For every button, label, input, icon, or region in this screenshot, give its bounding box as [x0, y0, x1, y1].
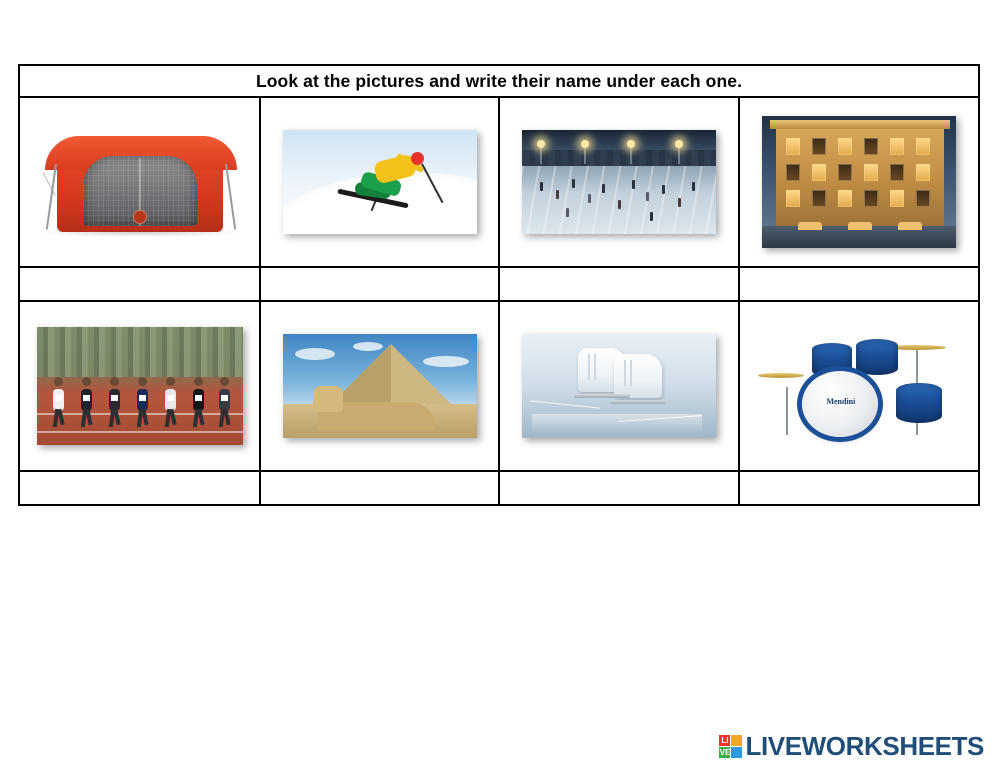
picture-cell-skiing [260, 97, 499, 267]
picture-cell-ice-rink [499, 97, 738, 267]
answer-cell-skiing[interactable] [260, 267, 499, 301]
picture-wrap-pyramid [261, 302, 498, 470]
answer-cell-ice-rink[interactable] [499, 267, 738, 301]
picture-wrap-drums: Mendini [740, 302, 978, 470]
drum-brand-text: Mendini [818, 397, 864, 406]
logo-square-orange [731, 735, 742, 746]
picture-cell-hotel [739, 97, 979, 267]
picture-cell-drums: Mendini [739, 301, 979, 471]
answer-cell-ice-skates[interactable] [499, 471, 738, 505]
answer-cell-hotel[interactable] [739, 267, 979, 301]
picture-wrap-running [20, 302, 259, 470]
pyramid-sphinx-illustration [283, 334, 477, 438]
picture-cell-tent [19, 97, 260, 267]
logo-square-blue [731, 747, 742, 758]
picture-cell-running [19, 301, 260, 471]
logo-square-li: LI [719, 735, 730, 746]
hotel-illustration [762, 116, 956, 248]
picture-row-1 [19, 97, 979, 267]
answer-cell-running[interactable] [19, 471, 260, 505]
picture-wrap-tent [20, 98, 259, 266]
tent-illustration [31, 112, 249, 252]
answer-row-1 [19, 267, 979, 301]
answer-cell-drums[interactable] [739, 471, 979, 505]
drums-illustration: Mendini [756, 327, 962, 445]
logo-squares: LI VE [719, 735, 742, 758]
picture-wrap-skiing [261, 98, 498, 266]
answer-cell-pyramid[interactable] [260, 471, 499, 505]
worksheet-table: Look at the pictures and write their nam… [18, 64, 980, 506]
picture-cell-ice-skates [499, 301, 738, 471]
ice-rink-illustration [522, 130, 716, 234]
ice-skates-illustration [522, 334, 716, 438]
worksheet-title: Look at the pictures and write their nam… [19, 65, 979, 97]
answer-cell-tent[interactable] [19, 267, 260, 301]
logo-square-ve: VE [719, 747, 730, 758]
skiing-illustration [283, 130, 477, 234]
logo-brand-text: LIVEWORKSHEETS [745, 731, 984, 762]
answer-row-2 [19, 471, 979, 505]
picture-row-2: Mendini [19, 301, 979, 471]
worksheet-title-row: Look at the pictures and write their nam… [19, 65, 979, 97]
picture-wrap-ice-rink [500, 98, 737, 266]
picture-wrap-hotel [740, 98, 978, 266]
running-illustration [37, 327, 243, 445]
picture-cell-pyramid [260, 301, 499, 471]
liveworksheets-logo[interactable]: LI VE LIVEWORKSHEETS [719, 731, 984, 762]
picture-wrap-ice-skates [500, 302, 737, 470]
